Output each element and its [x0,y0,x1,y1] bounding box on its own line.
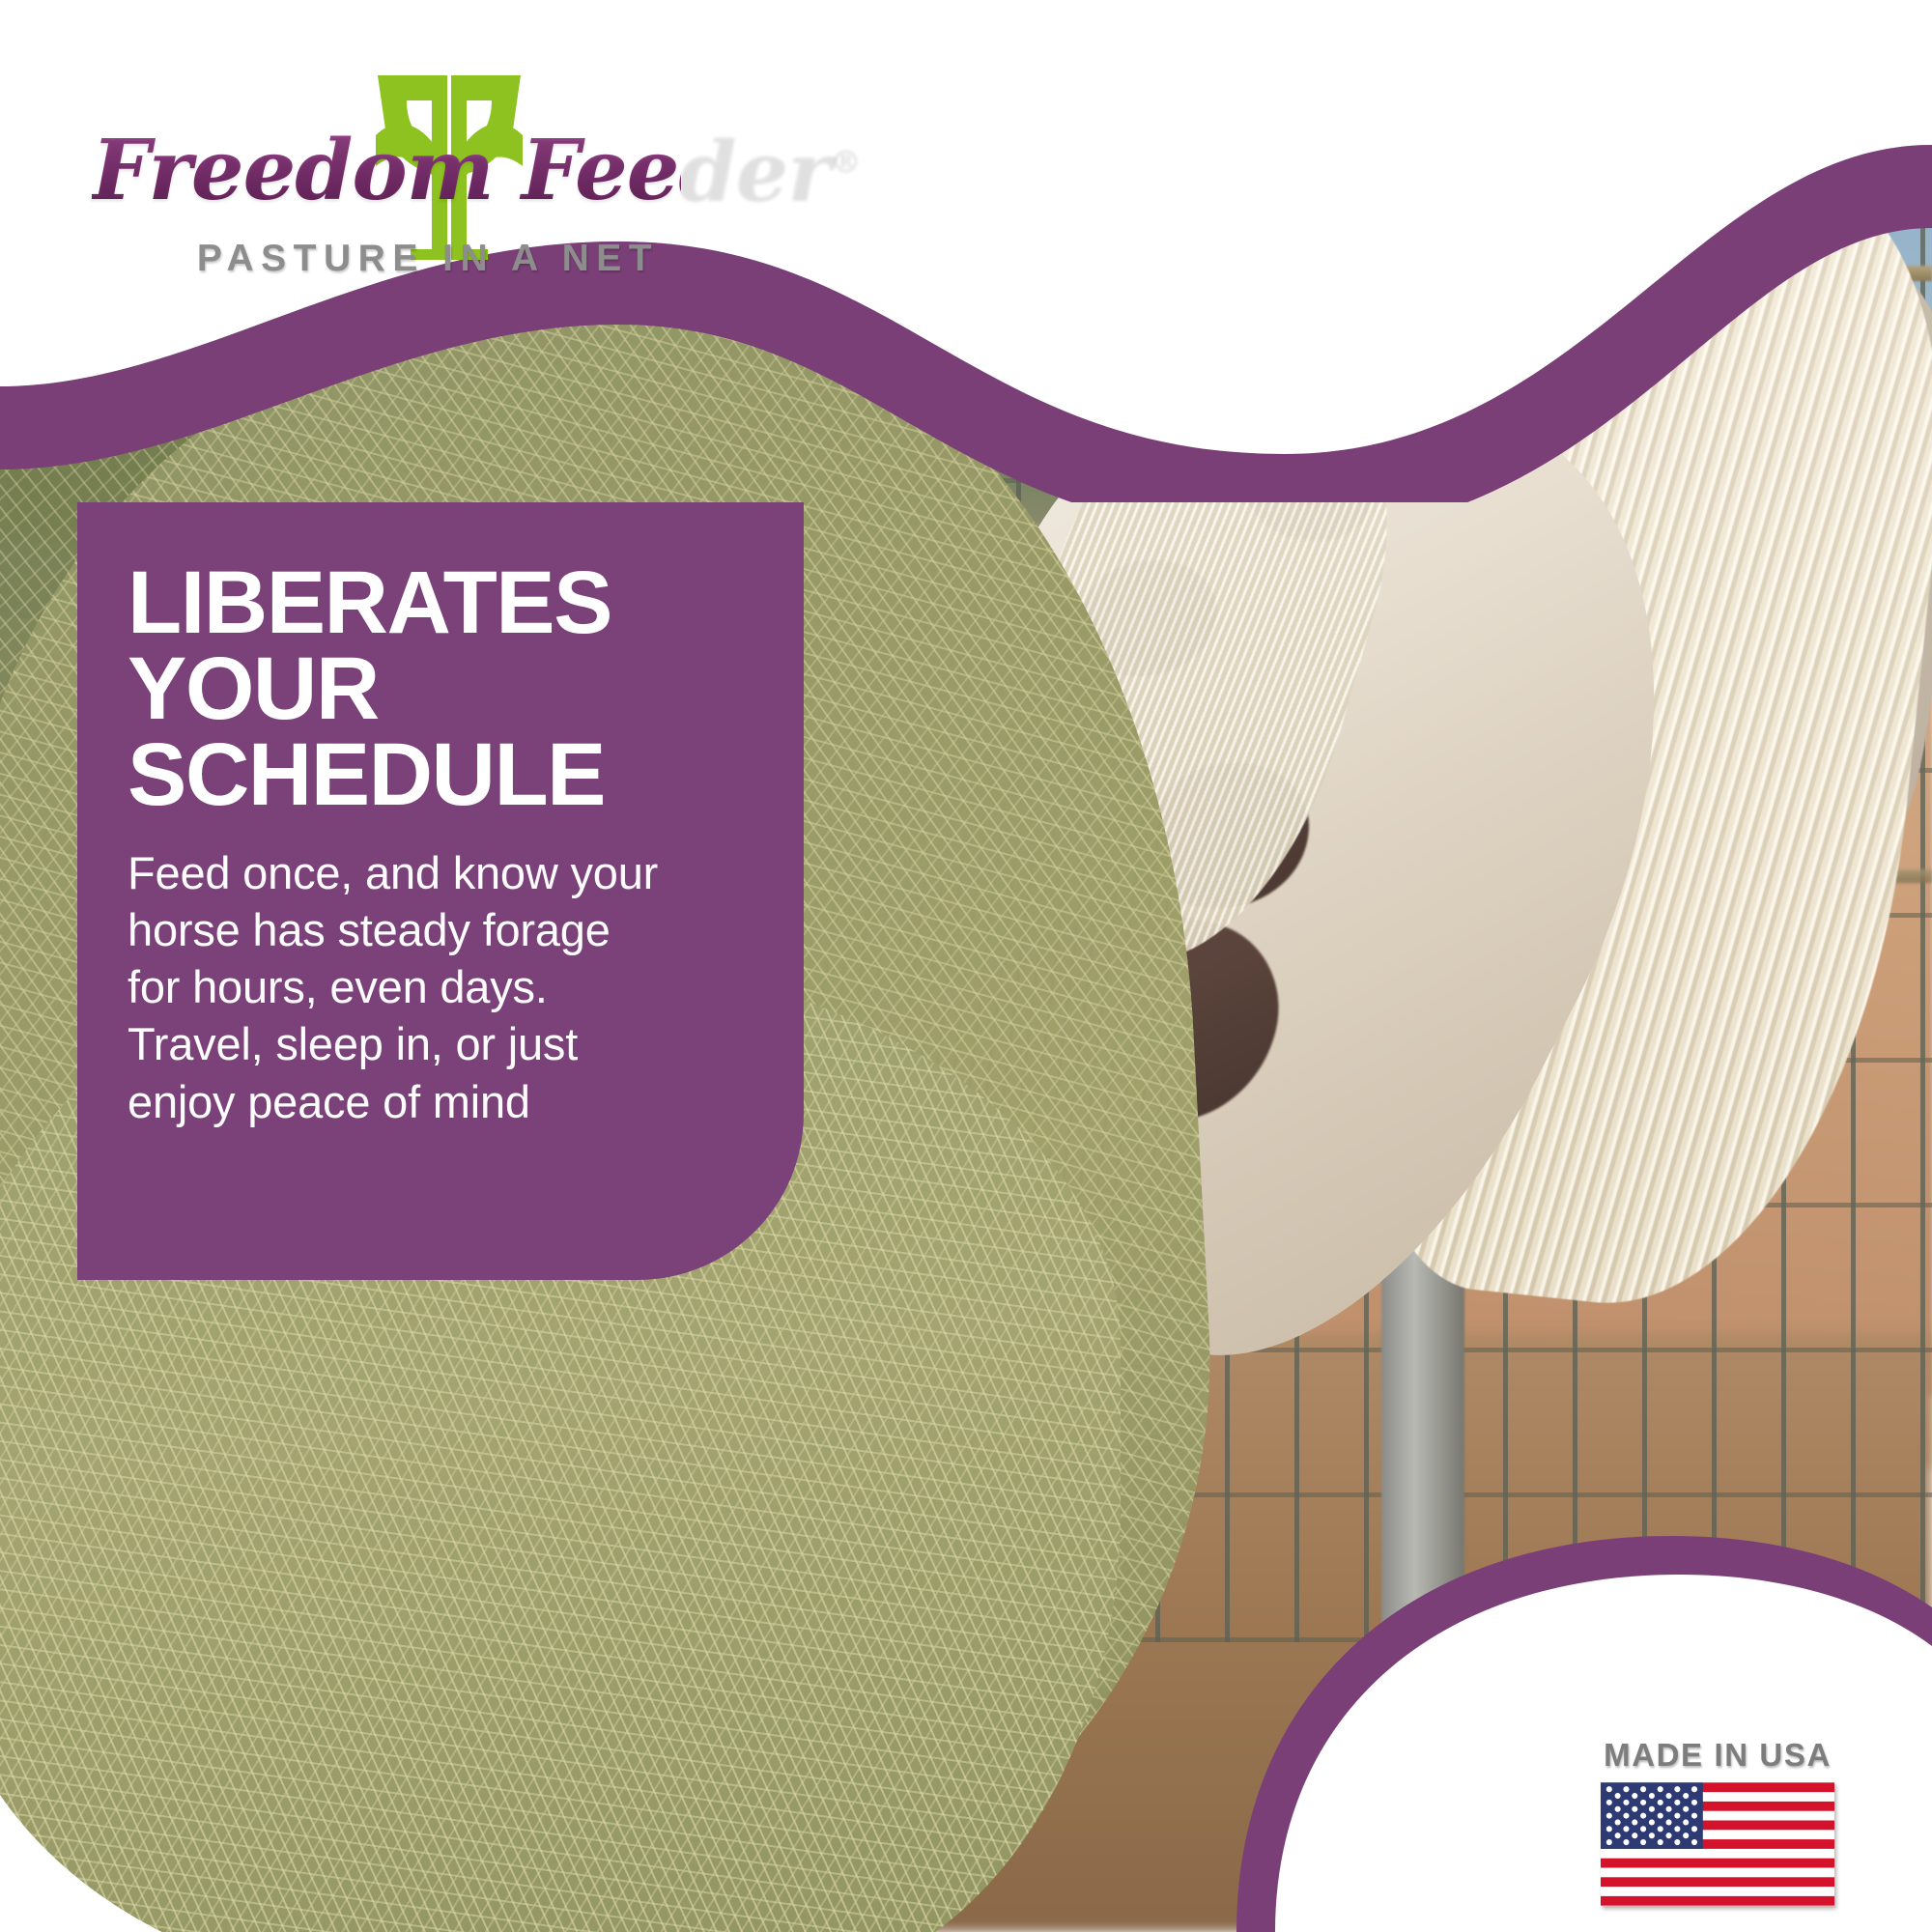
body-line-1: Feed once, and know your [128,844,746,901]
made-in-usa-badge: MADE IN USA [1573,1737,1862,1906]
body-line-5: enjoy peace of mind [128,1073,746,1130]
body-copy: Feed once, and know your horse has stead… [128,844,746,1130]
brand-logo: Freedom Feeder® PASTURE IN A NET [92,58,681,241]
brand-tagline: PASTURE IN A NET [177,238,679,280]
brand-wordmark: Freedom Feeder® [92,122,681,228]
us-flag-svg [1601,1782,1834,1906]
body-line-4: Travel, sleep in, or just [128,1015,746,1072]
message-card: LIBERATES YOUR SCHEDULE Feed once, and k… [77,502,804,1280]
body-line-2: horse has steady forage [128,901,746,958]
brand-script-text: Freedom Feeder [92,122,831,219]
headline: LIBERATES YOUR SCHEDULE [128,560,746,819]
registered-trademark-icon: ® [831,141,861,178]
headline-line-3: SCHEDULE [128,732,746,818]
ad-canvas: Freedom Feeder® PASTURE IN A NET LIBERAT… [0,0,1932,1932]
us-flag-icon [1601,1782,1834,1906]
body-line-3: for hours, even days. [128,958,746,1015]
message-card-content: LIBERATES YOUR SCHEDULE Feed once, and k… [128,560,746,1130]
headline-line-1: LIBERATES [128,560,746,646]
made-in-usa-label: MADE IN USA [1573,1737,1862,1774]
headline-line-2: YOUR [128,646,746,732]
